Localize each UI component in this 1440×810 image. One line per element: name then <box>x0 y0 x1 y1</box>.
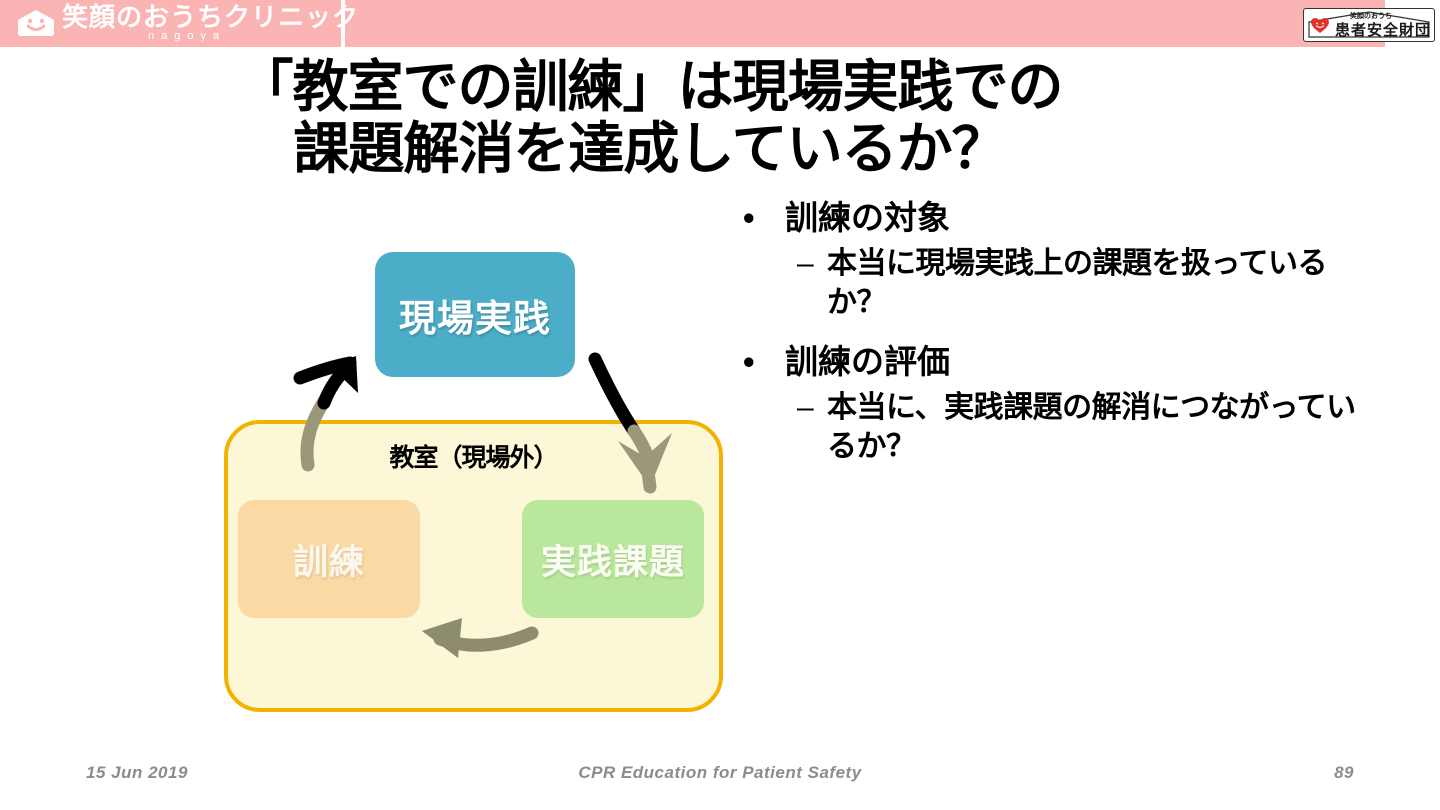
bullet-level1-2-label: 訓練の評価 <box>785 343 950 380</box>
node-kunren-label: 訓練 <box>293 534 365 585</box>
bullet-level2-1-label: 本当に現場実践上の課題を扱っているか？ <box>827 247 1327 319</box>
bullet-group-1: • 訓練の対象 – 本当に現場実践上の課題を扱っているか？ <box>735 196 1375 322</box>
smiling-heart-icon <box>1311 18 1329 34</box>
brand-subtitle: nagoya <box>148 30 226 43</box>
node-jissen-kadai: 実践課題 <box>522 500 704 618</box>
node-genba-jissen: 現場実践 <box>375 252 575 377</box>
node-kunren: 訓練 <box>238 500 420 618</box>
node-genba-jissen-label: 現場実践 <box>399 288 551 342</box>
bullet-dash-icon: – <box>797 244 813 283</box>
slide-title: 「教室での訓練」は現場実践での 課題解消を達成しているか？ <box>120 56 1180 180</box>
slide-title-line-2: 課題解消を達成しているか？ <box>120 118 1180 180</box>
bullet-group-2: • 訓練の評価 – 本当に、実践課題の解消につながっているか？ <box>735 340 1375 466</box>
bullet-level2-2: – 本当に、実践課題の解消につながっているか？ <box>735 388 1375 466</box>
bullet-dash-icon: – <box>797 388 813 427</box>
smiling-house-icon <box>14 8 58 38</box>
bullet-level2-2-label: 本当に、実践課題の解消につながっているか？ <box>827 391 1356 463</box>
foundation-logo: 笑顔のおうち 患者安全財団 <box>1303 8 1435 42</box>
bullet-marker-icon: • <box>743 196 755 240</box>
header-band: 笑顔のおうちクリニック nagoya <box>0 0 1385 47</box>
footer-page-number: 89 <box>1334 763 1354 783</box>
footer-title: CPR Education for Patient Safety <box>0 763 1440 783</box>
foundation-logo-main-text: 患者安全財団 <box>1335 19 1431 40</box>
slide-footer: 15 Jun 2019 CPR Education for Patient Sa… <box>0 757 1440 797</box>
bullet-level1-1-label: 訓練の対象 <box>785 199 950 236</box>
bullet-level1-2: • 訓練の評価 <box>735 340 1375 384</box>
cycle-diagram: 教室（現場外） 現場実践 <box>200 235 760 735</box>
bullet-level2-1: – 本当に現場実践上の課題を扱っているか？ <box>735 244 1375 322</box>
bullet-list: • 訓練の対象 – 本当に現場実践上の課題を扱っているか？ • 訓練の評価 – … <box>735 196 1375 484</box>
node-jissen-kadai-label: 実践課題 <box>541 534 685 585</box>
slide-title-line-1: 「教室での訓練」は現場実践での <box>120 56 1180 118</box>
bullet-level1-1: • 訓練の対象 <box>735 196 1375 240</box>
classroom-label: 教室（現場外） <box>224 438 723 474</box>
brand-name: 笑顔のおうちクリニック <box>62 2 359 32</box>
slide-canvas: 笑顔のおうちクリニック nagoya 笑顔のおうち 患者安全財団 「教室での訓練… <box>0 0 1440 810</box>
